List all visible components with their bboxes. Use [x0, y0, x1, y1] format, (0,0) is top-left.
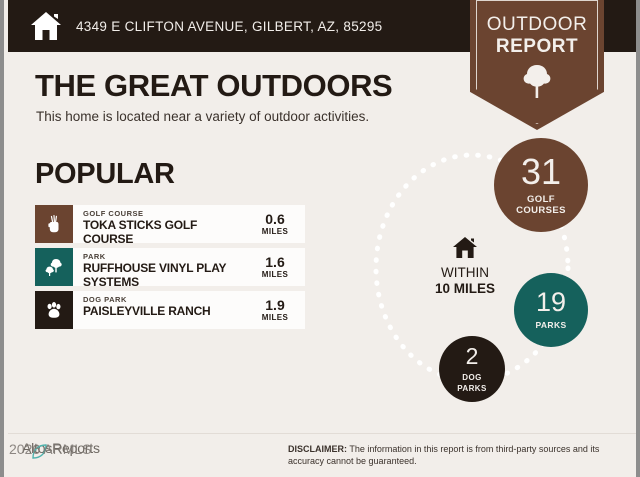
tree-icon: [516, 60, 558, 102]
stat-label-line-2: COURSES: [516, 205, 566, 216]
distance-unit: MILES: [245, 227, 305, 236]
stat-value: 31: [521, 154, 561, 190]
list-item[interactable]: PARK RUFFHOUSE VINYL PLAY SYSTEMS 1.6 MI…: [35, 248, 305, 286]
stat-label-line-1: GOLF: [516, 194, 566, 205]
disclaimer: DISCLAIMER: The information in this repo…: [288, 444, 618, 467]
list-item-distance: 1.6 MILES: [245, 248, 305, 279]
radius-line-1: WITHIN: [417, 265, 513, 281]
copyright-watermark: 2026 ARMLS: [9, 441, 92, 457]
stat-label-line-1: DOG: [457, 372, 486, 383]
distance-unit: MILES: [245, 270, 305, 279]
home-icon: [452, 236, 478, 259]
home-icon: [30, 11, 62, 41]
distance-unit: MILES: [245, 313, 305, 322]
stat-label-line-2: PARKS: [457, 383, 486, 394]
stat-label-line-1: PARKS: [535, 320, 566, 331]
list-item-name: RUFFHOUSE VINYL PLAY SYSTEMS: [83, 261, 245, 286]
radius-line-2: 10 MILES: [417, 281, 513, 297]
list-item-distance: 1.9 MILES: [245, 291, 305, 322]
list-item[interactable]: GOLF COURSE TOKA STICKS GOLF COURSE 0.6 …: [35, 205, 305, 243]
stat-label: PARKS: [535, 320, 566, 331]
list-item-category: PARK: [83, 252, 245, 261]
badge-line-1: OUTDOOR: [470, 14, 604, 36]
list-item-name: TOKA STICKS GOLF COURSE: [83, 218, 245, 243]
stat-label: DOG PARKS: [457, 372, 486, 394]
stat-circle-dog-parks[interactable]: 2 DOG PARKS: [439, 336, 505, 402]
radius-center: WITHIN 10 MILES: [417, 236, 513, 297]
disclaimer-label: DISCLAIMER:: [288, 444, 347, 454]
section-title-popular: POPULAR: [35, 158, 175, 191]
stat-value: 2: [466, 345, 479, 368]
stat-circle-golf-courses[interactable]: 31 GOLF COURSES: [494, 138, 588, 232]
list-item-category: DOG PARK: [83, 295, 245, 304]
list-item-distance: 0.6 MILES: [245, 205, 305, 236]
distance-value: 0.6: [245, 212, 305, 227]
stat-circle-parks[interactable]: 19 PARKS: [514, 273, 588, 347]
badge-text: OUTDOOR REPORT: [470, 14, 604, 58]
tree-icon: [35, 248, 73, 286]
paw-icon: [35, 291, 73, 329]
list-item[interactable]: DOG PARK PAISLEYVILLE RANCH 1.9 MILES: [35, 291, 305, 329]
page-title: THE GREAT OUTDOORS: [35, 68, 392, 104]
distance-value: 1.6: [245, 255, 305, 270]
property-address: 4349 E CLIFTON AVENUE, GILBERT, AZ, 8529…: [76, 19, 382, 34]
list-item-category: GOLF COURSE: [83, 209, 245, 218]
badge-line-2: REPORT: [470, 36, 604, 58]
page-subtitle: This home is located near a variety of o…: [36, 109, 369, 124]
stat-label: GOLF COURSES: [516, 194, 566, 216]
outdoor-report-page: 4349 E CLIFTON AVENUE, GILBERT, AZ, 8529…: [0, 0, 640, 477]
list-item-name: PAISLEYVILLE RANCH: [83, 304, 245, 318]
stat-value: 19: [536, 289, 566, 316]
popular-list: GOLF COURSE TOKA STICKS GOLF COURSE 0.6 …: [35, 205, 305, 334]
golf-bag-icon: [35, 205, 73, 243]
distance-value: 1.9: [245, 298, 305, 313]
